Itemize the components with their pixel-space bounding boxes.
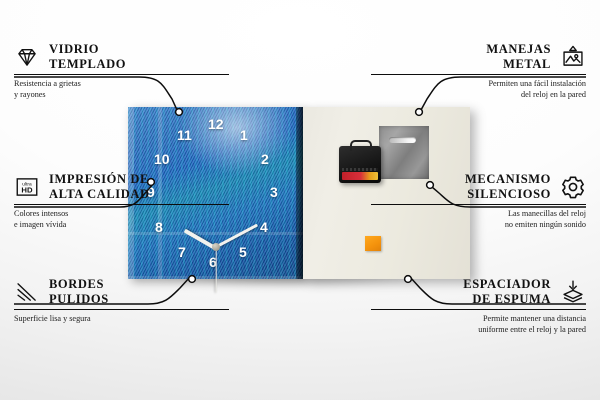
feature-desc-line2: e imagen vívida xyxy=(14,220,229,231)
feature-divider xyxy=(14,309,229,310)
feature-header: ultra HD IMPRESIÓN DE ALTA CALIDAD xyxy=(14,172,229,201)
clock-numeral-11: 11 xyxy=(177,128,192,142)
feature-title: ESPACIADOR DE ESPUMA xyxy=(463,277,551,306)
clock-numeral-7: 7 xyxy=(178,245,186,259)
diamond-icon xyxy=(14,44,40,70)
foam-spacer-icon xyxy=(560,279,586,305)
feature-impresion-alta-calidad[interactable]: ultra HD IMPRESIÓN DE ALTA CALIDAD Color… xyxy=(14,172,229,231)
feature-desc-line1: Las manecillas del reloj xyxy=(371,209,586,220)
feature-header: MECANISMO SILENCIOSO xyxy=(371,172,586,201)
feature-header: VIDRIO TEMPLADO xyxy=(14,42,229,71)
feature-title: BORDES PULIDOS xyxy=(49,277,109,306)
feature-header: BORDES PULIDOS xyxy=(14,277,229,306)
svg-text:HD: HD xyxy=(21,185,33,194)
feature-header: ESPACIADOR DE ESPUMA xyxy=(371,277,586,306)
feature-divider xyxy=(371,204,586,205)
clock-numeral-3: 3 xyxy=(270,185,278,199)
feature-manejas-metal[interactable]: MANEJAS METAL Permiten una fácil instala… xyxy=(371,42,586,101)
feature-title: MECANISMO SILENCIOSO xyxy=(465,172,551,201)
gear-icon xyxy=(560,174,586,200)
feature-vidrio-templado[interactable]: VIDRIO TEMPLADO Resistencia a grietas y … xyxy=(14,42,229,101)
movement-hanging-loop xyxy=(350,140,372,151)
feature-divider xyxy=(14,204,229,205)
feature-mecanismo-silencioso[interactable]: MECANISMO SILENCIOSO Las manecillas del … xyxy=(371,172,586,231)
clock-numeral-1: 1 xyxy=(240,128,248,142)
feature-desc-line2: no emiten ningún sonido xyxy=(371,220,586,231)
feature-bordes-pulidos[interactable]: BORDES PULIDOS Superficie lisa y segura xyxy=(14,277,229,325)
feature-desc-line1: Resistencia a grietas xyxy=(14,79,229,90)
clock-numeral-12: 12 xyxy=(208,117,224,131)
picture-hanger-icon xyxy=(560,44,586,70)
clock-numeral-5: 5 xyxy=(239,245,247,259)
hanger-slot xyxy=(389,137,416,143)
feature-desc-line2: del reloj en la pared xyxy=(371,90,586,101)
clock-numeral-10: 10 xyxy=(154,152,170,166)
feature-desc-line1: Permiten una fácil instalación xyxy=(371,79,586,90)
foam-spacer-square xyxy=(365,236,381,251)
movement-detail-stripe xyxy=(342,168,378,171)
clock-center-cap xyxy=(212,243,220,251)
feature-desc-line1: Colores intensos xyxy=(14,209,229,220)
feature-divider xyxy=(371,74,586,75)
feature-title: MANEJAS METAL xyxy=(486,42,551,71)
feature-desc-line1: Superficie lisa y segura xyxy=(14,314,229,325)
feature-title: VIDRIO TEMPLADO xyxy=(49,42,126,71)
feature-title: IMPRESIÓN DE ALTA CALIDAD xyxy=(49,172,150,201)
feature-desc-line2: y rayones xyxy=(14,90,229,101)
clock-numeral-2: 2 xyxy=(261,152,269,166)
feature-divider xyxy=(371,309,586,310)
feature-desc-line1: Permite mantener una distancia xyxy=(371,314,586,325)
clock-numeral-4: 4 xyxy=(260,220,268,234)
feature-header: MANEJAS METAL xyxy=(371,42,586,71)
polished-edge-icon xyxy=(14,279,40,305)
feature-desc-line2: uniforme entre el reloj y la pared xyxy=(371,325,586,336)
feature-divider xyxy=(14,74,229,75)
feature-espaciador-espuma[interactable]: ESPACIADOR DE ESPUMA Permite mantener un… xyxy=(371,277,586,336)
infographic-canvas: 12 1 2 3 4 5 6 7 8 9 10 11 xyxy=(0,0,600,400)
ultra-hd-icon: ultra HD xyxy=(14,174,40,200)
